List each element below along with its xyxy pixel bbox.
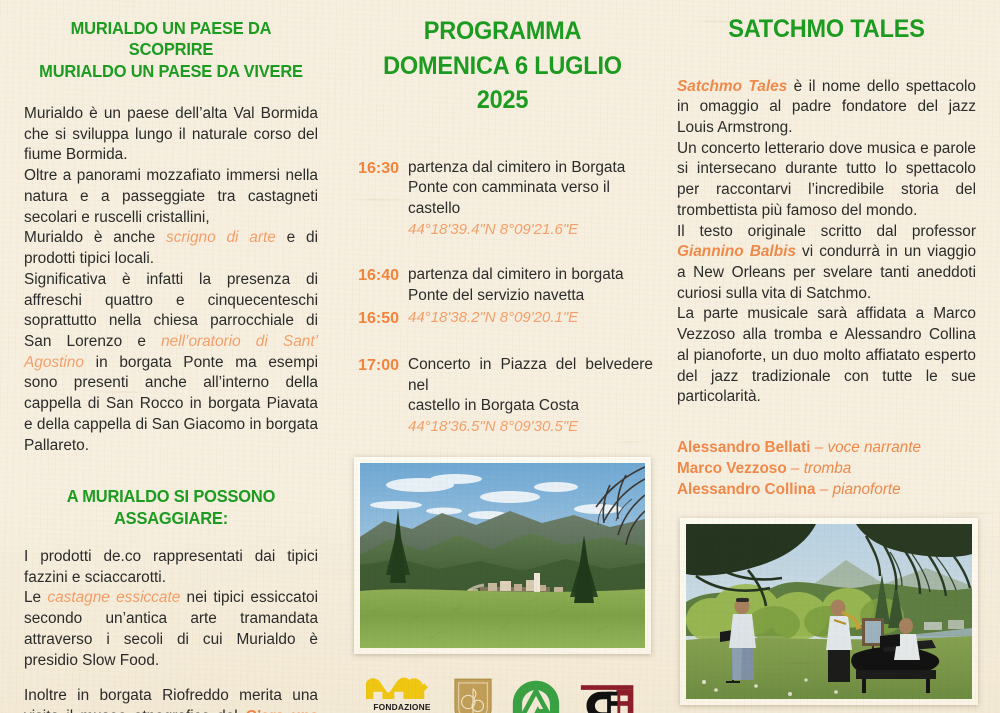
spacer — [677, 45, 976, 77]
shield-crest-icon — [452, 676, 494, 713]
paragraph-nature: Oltre a panorami mozzafiato immersi nell… — [24, 166, 318, 228]
landscape-photo — [354, 457, 651, 654]
concert-photo-graphic — [686, 524, 972, 699]
spacer — [352, 332, 653, 355]
paragraph-author-pre: Il testo originale scritto dal professor — [677, 223, 976, 240]
highlight-giannino-balbis: Giannino Balbis — [677, 243, 796, 260]
artist-role: voce narrante — [827, 439, 921, 456]
cai-mountain-logo — [509, 678, 565, 713]
program-heading-line-1: PROGRAMMA — [361, 14, 644, 49]
paragraph-concert-description: Un concerto letterario dove musica e par… — [677, 139, 976, 222]
spacer — [24, 529, 318, 547]
artists-credits: Alessandro Bellati – voce narrante Marco… — [677, 438, 976, 500]
artist-role: tromba — [804, 460, 852, 477]
sponsor-logos: FONDAZIONE DE MARI CR SAVONA — [366, 676, 641, 713]
paragraph-chestnuts: Le castagne essiccate nei tipici essicca… — [24, 588, 318, 671]
highlight-castagne-essiccate: castagne essiccate — [47, 589, 180, 606]
program-heading: PROGRAMMA DOMENICA 6 LUGLIO 2025 — [361, 14, 644, 118]
paragraph-museum: Inoltre in borgata Riofreddo merita una … — [24, 686, 318, 713]
artist-credit-row: Alessandro Collina – pianoforte — [677, 480, 976, 501]
fondazione-wave-icon — [366, 677, 428, 701]
artist-separator: – — [816, 481, 833, 498]
artist-separator: – — [810, 439, 827, 456]
program-time: 16:30 — [352, 158, 408, 180]
left-body-text-2: I prodotti de.co rappresentati dai tipic… — [24, 547, 318, 713]
right-column: SATCHMO TALES Satchmo Tales è il nome de… — [665, 0, 1000, 713]
program-description-main: Concerto in Piazza del belvedere nel — [408, 356, 653, 394]
program-description: partenza dal cimitero in borgata Ponte d… — [408, 265, 653, 306]
mountain-circle-icon — [509, 678, 563, 713]
fondazione-label-line-1: FONDAZIONE — [366, 703, 438, 713]
program-description-cont: Ponte del servizio navetta — [408, 286, 653, 307]
spacer — [24, 671, 318, 686]
shield-crest-logo — [452, 676, 496, 713]
paragraph-intro: Murialdo è un paese dell’alta Val Bormid… — [24, 104, 318, 166]
paragraph-satchmo-intro: Satchmo Tales è il nome dello spettacolo… — [677, 77, 976, 139]
fondazione-de-mari-cr-savona-logo: FONDAZIONE DE MARI CR SAVONA — [366, 677, 438, 713]
program-description: 44°18'38.2"N 8°09'20.1"E — [408, 308, 653, 328]
program-entry: 16:40 partenza dal cimitero in borgata P… — [352, 265, 653, 306]
program-description: partenza dal cimitero in Borgata Ponte c… — [408, 158, 653, 240]
paragraph-musicians: La parte musicale sarà affidata a Marco … — [677, 304, 976, 408]
satchmo-heading: SATCHMO TALES — [686, 14, 967, 45]
left-heading-line-2: MURIALDO UN PAESE DA VIVERE — [33, 61, 309, 82]
artist-name: Alessandro Collina — [677, 481, 816, 498]
program-coordinates: 44°18'36.5"N 8°09'30.5"E — [408, 417, 653, 437]
artist-separator: – — [787, 460, 804, 477]
paragraph-author: Il testo originale scritto dal professor… — [677, 222, 976, 305]
program-entry: 16:30 partenza dal cimitero in Borgata P… — [352, 158, 653, 240]
paragraph-art-pre: Murialdo è anche — [24, 229, 166, 246]
artist-credit-row: Marco Vezzoso – tromba — [677, 459, 976, 480]
program-description-main: partenza dal cimitero in borgata — [408, 266, 624, 283]
artist-credit-row: Alessandro Bellati – voce narrante — [677, 438, 976, 459]
left-heading-2-line-2: ASSAGGIARE: — [33, 508, 309, 529]
program-time: 17:00 — [352, 355, 408, 377]
program-heading-line-2: DOMENICA 6 LUGLIO 2025 — [361, 49, 644, 118]
right-body-text: Satchmo Tales è il nome dello spettacolo… — [677, 77, 976, 409]
program-description: Concerto in Piazza del belvedere nel cas… — [408, 355, 653, 437]
artist-role: pianoforte — [833, 481, 901, 498]
paragraph-chestnuts-pre: Le — [24, 589, 47, 606]
left-body-text: Murialdo è un paese dell’alta Val Bormid… — [24, 104, 318, 456]
program-entry-second-time: 16:50 44°18'38.2"N 8°09'20.1"E — [352, 308, 653, 330]
flyer-page: MURIALDO UN PAESE DA SCOPRIRE MURIALDO U… — [0, 0, 1000, 713]
artist-name: Marco Vezzoso — [677, 460, 787, 477]
program-schedule: 16:30 partenza dal cimitero in Borgata P… — [352, 158, 653, 438]
program-description-cont: castello in Borgata Costa — [408, 396, 653, 417]
spacer — [24, 456, 318, 486]
program-description-main: partenza dal cimitero in Borgata — [408, 159, 625, 176]
spacer — [24, 82, 318, 104]
paragraph-deco-products: I prodotti de.co rappresentati dai tipic… — [24, 547, 318, 588]
artist-name: Alessandro Bellati — [677, 439, 810, 456]
left-heading-2: A MURIALDO SI POSSONO ASSAGGIARE: — [33, 486, 309, 529]
cb-monogram-icon — [579, 683, 639, 713]
left-heading: MURIALDO UN PAESE DA SCOPRIRE MURIALDO U… — [33, 18, 309, 82]
left-heading-2-line-1: A MURIALDO SI POSSONO — [33, 486, 309, 507]
program-time: 16:40 — [352, 265, 408, 287]
program-entry: 17:00 Concerto in Piazza del belvedere n… — [352, 355, 653, 437]
program-coordinates: 44°18'38.2"N 8°09'20.1"E — [408, 308, 653, 328]
highlight-scrigno-di-arte: scrigno di arte — [166, 229, 276, 246]
left-column: MURIALDO UN PAESE DA SCOPRIRE MURIALDO U… — [0, 0, 340, 713]
program-description-cont: Ponte con camminata verso il castello — [408, 178, 653, 219]
program-time-alt: 16:50 — [352, 308, 408, 330]
program-coordinates: 44°18'39.4"N 8°09'21.6"E — [408, 220, 653, 240]
spacer — [352, 242, 653, 265]
middle-column: PROGRAMMA DOMENICA 6 LUGLIO 2025 16:30 p… — [340, 0, 665, 713]
landscape-photo-graphic — [360, 463, 645, 648]
concert-photo — [680, 518, 978, 705]
highlight-satchmo-tales: Satchmo Tales — [677, 78, 787, 95]
paragraph-frescoes: Significativa è infatti la presenza di a… — [24, 270, 318, 456]
left-heading-line-1: MURIALDO UN PAESE DA SCOPRIRE — [33, 18, 309, 61]
cb-logo — [579, 683, 641, 713]
paragraph-art: Murialdo è anche scrigno di arte e di pr… — [24, 228, 318, 269]
